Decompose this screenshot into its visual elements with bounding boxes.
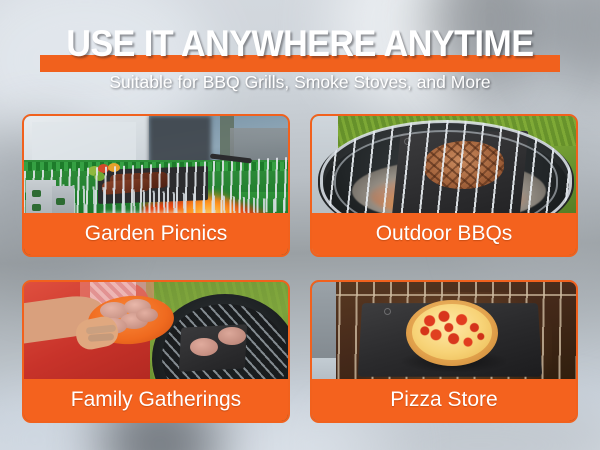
use-case-card-pizza-store: Pizza Store (310, 280, 578, 423)
card-caption: Garden Picnics (24, 213, 288, 255)
page-subtitle: Suitable for BBQ Grills, Smoke Stoves, a… (0, 71, 600, 93)
use-case-card-family-gatherings: Family Gatherings (22, 280, 290, 423)
page-title: USE IT ANYWHERE ANYTIME (66, 22, 533, 66)
title-block: USE IT ANYWHERE ANYTIME (40, 22, 560, 66)
card-caption: Outdoor BBQs (312, 213, 576, 255)
header: USE IT ANYWHERE ANYTIME Suitable for BBQ… (0, 22, 600, 93)
use-case-card-outdoor-bbqs: Outdoor BBQs (310, 114, 578, 257)
use-case-card-garden-picnics: Garden Picnics (22, 114, 290, 257)
use-case-grid: Garden Picnics Outdoor BBQs (22, 114, 578, 423)
card-caption: Family Gatherings (24, 379, 288, 421)
card-caption: Pizza Store (312, 379, 576, 421)
promo-poster: USE IT ANYWHERE ANYTIME Suitable for BBQ… (0, 0, 600, 450)
